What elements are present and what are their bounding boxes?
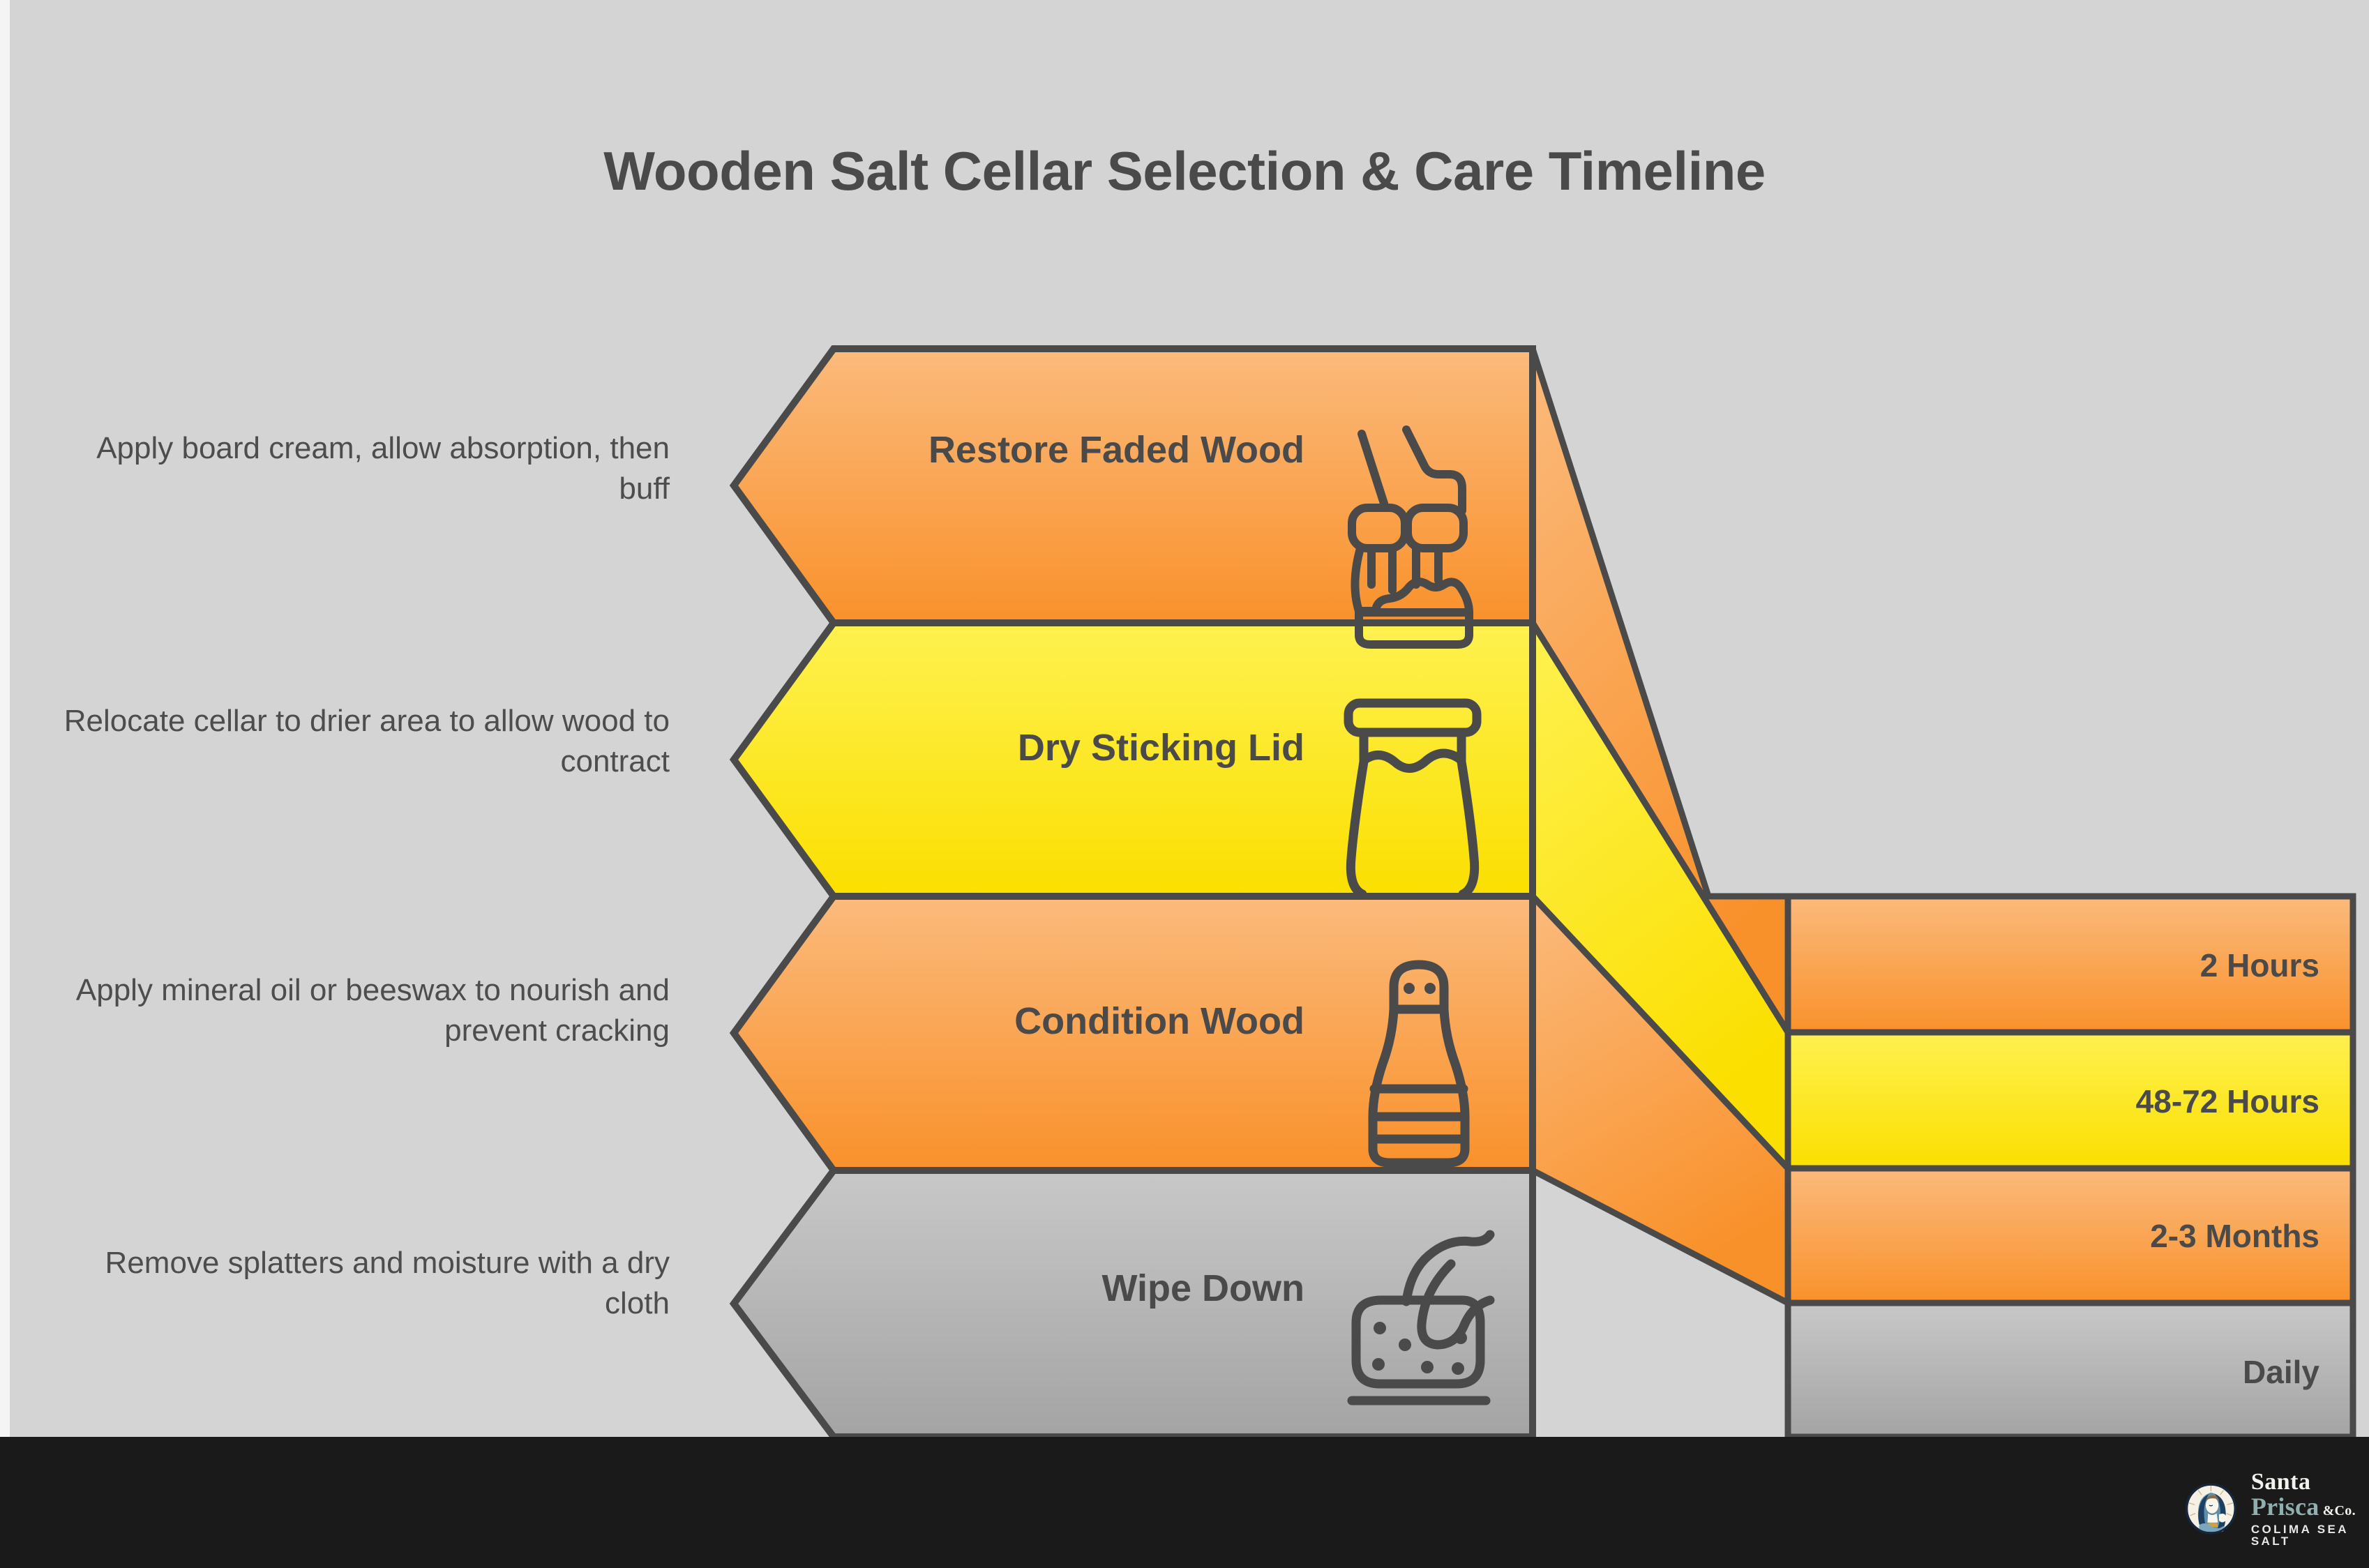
stage-label-4: Wipe Down xyxy=(830,1266,1304,1312)
santa-prisca-madonna-logo-icon xyxy=(2182,1474,2240,1544)
brand-prisca: Prisca xyxy=(2251,1494,2319,1519)
time-label-2: 48-72 Hours xyxy=(1788,1083,2319,1120)
description-3: Apply mineral oil or beeswax to nourish … xyxy=(56,970,670,1051)
description-4: Remove splatters and moisture with a dry… xyxy=(56,1243,670,1324)
time-label-4: Daily xyxy=(1788,1353,2319,1391)
time-label-3: 2-3 Months xyxy=(1788,1217,2319,1255)
brand-tagline: COLIMA SEA SALT xyxy=(2251,1523,2369,1547)
description-1: Apply board cream, allow absorption, the… xyxy=(56,428,670,509)
stage-label-1: Restore Faded Wood xyxy=(830,428,1304,474)
timeline-diagram xyxy=(0,0,2369,1568)
description-2: Relocate cellar to drier area to allow w… xyxy=(56,701,670,782)
time-label-1: 2 Hours xyxy=(1788,947,2319,984)
brand-text: Santa Prisca &Co. COLIMA SEA SALT xyxy=(2251,1470,2369,1547)
infographic-canvas: Wooden Salt Cellar Selection & Care Time… xyxy=(0,0,2369,1568)
brand-name-line2: Prisca &Co. xyxy=(2251,1494,2369,1519)
brand-suffix: &Co. xyxy=(2323,1504,2356,1518)
brand-logo: Santa Prisca &Co. COLIMA SEA SALT xyxy=(2182,1470,2369,1547)
brand-name-line1: Santa xyxy=(2251,1470,2369,1494)
stage-label-3: Condition Wood xyxy=(830,999,1304,1045)
footer-bar xyxy=(0,1437,2369,1568)
stage-label-2: Dry Sticking Lid xyxy=(830,725,1304,771)
